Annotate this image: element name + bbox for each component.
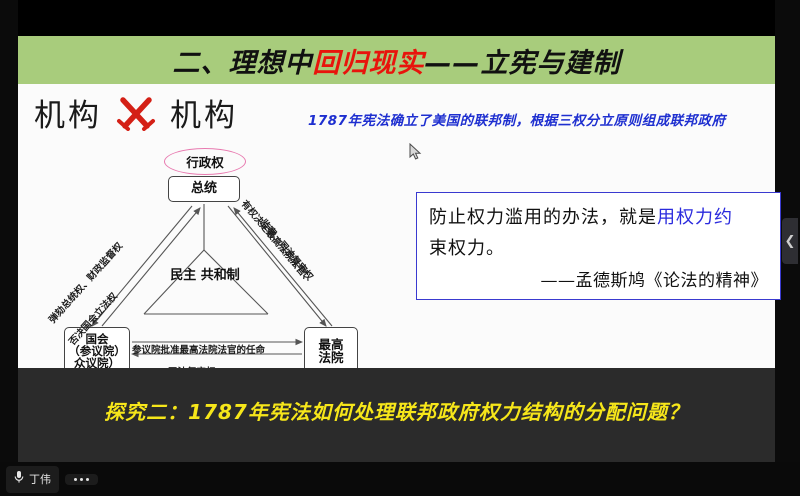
handwritten-note: 1787年宪法确立了美国的联邦制，根据三权分立原则组成联邦政府 <box>308 109 778 129</box>
microphone-icon <box>14 470 24 489</box>
title-part1: 二、理想中 <box>173 48 313 79</box>
slide-body: 机构 机构 1787年宪法确立了美国的 <box>18 84 775 368</box>
left-rail <box>0 0 18 496</box>
node-president-label: 总统 <box>191 182 217 196</box>
edge-label-bottom-upper: 参议院批准最高法院法官的任命 <box>132 342 265 356</box>
slide-title-band: 二、理想中回归现实——立宪与建制 <box>18 36 775 84</box>
heading-right-word: 机构 <box>170 90 238 135</box>
more-options-icon[interactable] <box>65 474 98 485</box>
page-title: 二、理想中回归现实——立宪与建制 <box>173 41 621 80</box>
diagram-center-label: 民主 共和制 <box>155 268 255 283</box>
dot-2 <box>80 478 83 481</box>
speaker-name: 丁伟 <box>29 471 51 487</box>
screen-share-view: 二、理想中回归现实——立宪与建制 机构 <box>0 0 800 496</box>
montesquieu-quote-box: 防止权力滥用的办法，就是用权力约 束权力。 ——孟德斯鸠《论法的精神》 <box>416 192 781 300</box>
quote-line-2: 束权力。 <box>429 233 768 264</box>
center-label-line1: 民主 <box>170 268 196 283</box>
mouse-cursor <box>409 143 422 161</box>
question-panel: 探究二：1787年宪法如何处理联邦政府权力结构的分配问题？ <box>18 368 775 462</box>
microphone-status-chip[interactable]: 丁伟 <box>6 466 59 493</box>
chevron-left-icon[interactable]: ❮ <box>782 218 798 264</box>
quote-text-black: 防止权力滥用的办法，就是 <box>429 207 657 228</box>
inquiry-question: 探究二：1787年宪法如何处理联邦政府权力结构的分配问题？ <box>18 396 775 425</box>
slide-top-margin <box>18 0 775 36</box>
power-pill-executive: 行政权 <box>164 148 246 175</box>
dot-3 <box>86 478 89 481</box>
heading-row: 机构 机构 <box>34 90 238 135</box>
quote-line-1: 防止权力滥用的办法，就是用权力约 <box>429 202 768 233</box>
quote-text-blue-1: 用权力约 <box>657 207 733 228</box>
center-label-line2: 共和制 <box>201 268 240 283</box>
meeting-bottom-bar: 丁伟 <box>0 462 800 496</box>
dot-1 <box>74 478 77 481</box>
quote-source: ——孟德斯鸠《论法的精神》 <box>429 266 768 291</box>
heading-left-word: 机构 <box>34 90 102 135</box>
crossed-swords-icon <box>116 95 156 131</box>
diagram-node-president: 总统 <box>168 176 240 202</box>
title-part2: ——立宪与建制 <box>425 48 621 79</box>
presentation-slide: 二、理想中回归现实——立宪与建制 机构 <box>18 0 775 462</box>
title-highlight: 回归现实 <box>313 48 425 79</box>
node-court-line2: 法院 <box>318 351 343 364</box>
